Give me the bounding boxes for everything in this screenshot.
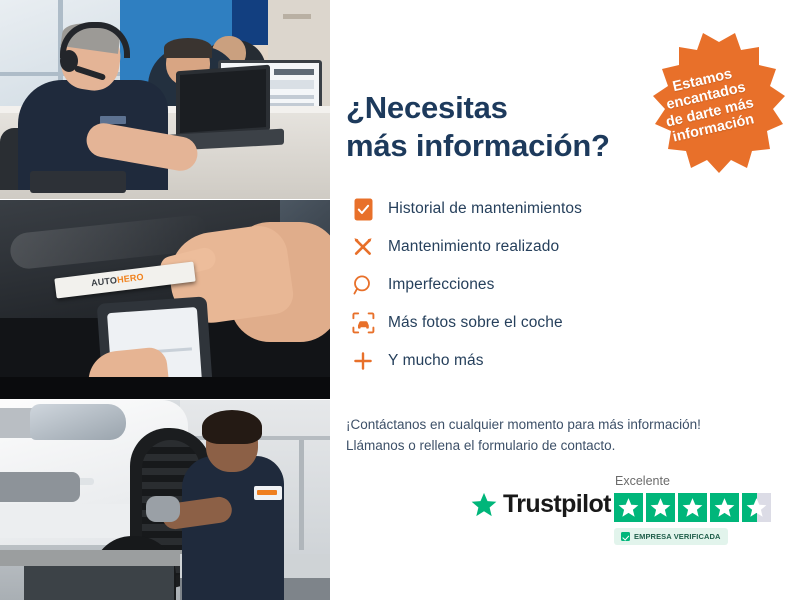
mechanic-uniform-logo — [254, 486, 282, 500]
plus-icon — [346, 344, 380, 378]
trustpilot-widget[interactable]: Trustpilot Excelente EMPRESA VERIFICADA — [470, 474, 790, 554]
page-title-line-1: ¿Necesitas — [346, 90, 508, 125]
contact-badge: Estamos encantados de darte más informac… — [629, 26, 787, 184]
vehicle-lift-base — [24, 566, 174, 600]
trustpilot-stars — [614, 493, 771, 522]
document-check-icon — [346, 192, 380, 226]
car-lower-bumper — [0, 504, 138, 538]
badge-text: Estamos encantados de darte más informac… — [640, 59, 776, 151]
desk-tablet — [30, 171, 126, 193]
feature-label: Y mucho más — [388, 352, 484, 370]
feature-item-fotos: Más fotos sobre el coche — [346, 304, 676, 342]
car-grille-lower — [0, 472, 80, 502]
car-camera-frame-icon — [346, 306, 380, 340]
trustpilot-rating-label: Excelente — [615, 474, 670, 488]
feature-item-imperfecciones: Imperfecciones — [346, 266, 676, 304]
feature-item-historial: Historial de mantenimientos — [346, 190, 676, 228]
feature-label: Mantenimiento realizado — [388, 238, 559, 256]
magnifier-icon — [346, 268, 380, 302]
feature-label: Más fotos sobre el coche — [388, 314, 563, 332]
photo-floor-shadow — [0, 377, 330, 399]
vehicle-lift-platform — [0, 550, 190, 566]
laptop-screen — [176, 65, 270, 138]
star-4 — [710, 493, 739, 522]
info-panel: ¿Necesitas más información? Estamos enca… — [330, 0, 799, 600]
feature-label: Historial de mantenimientos — [388, 200, 582, 218]
star-2 — [646, 493, 675, 522]
feature-label: Imperfecciones — [388, 276, 495, 294]
info-banner: AUTOHERO — [0, 0, 799, 600]
background-colleague-one-hair — [164, 38, 212, 58]
call-center-agent-photo — [0, 0, 330, 199]
monitor-ui-bar — [274, 69, 314, 75]
headset-icon — [629, 30, 655, 52]
tools-wrench-screwdriver-icon — [346, 230, 380, 264]
trustpilot-star-icon — [470, 491, 498, 519]
mechanic-wheel-photo — [0, 400, 330, 600]
star-5-half — [742, 493, 771, 522]
trustpilot-logo[interactable]: Trustpilot — [470, 490, 611, 519]
wall-shelf — [283, 14, 311, 19]
mechanic-glove — [146, 496, 180, 522]
star-1 — [614, 493, 643, 522]
star-3 — [678, 493, 707, 522]
verified-check-icon — [621, 532, 630, 541]
page-title-line-2: más información? — [346, 127, 666, 165]
autohero-ruler-logo: AUTOHERO — [91, 272, 145, 288]
car-headlight — [30, 404, 126, 440]
trustpilot-wordmark: Trustpilot — [503, 490, 611, 519]
workshop-pipe — [299, 440, 304, 550]
page-title: ¿Necesitas más información? — [346, 89, 666, 165]
verified-company-badge: EMPRESA VERIFICADA — [614, 528, 728, 545]
mechanic-torso — [182, 456, 284, 600]
car-inspection-photo: AUTOHERO — [0, 200, 330, 399]
verified-company-label: EMPRESA VERIFICADA — [634, 532, 721, 541]
contact-line-2: Llámanos o rellena el formulario de cont… — [346, 435, 786, 457]
photo-collage: AUTOHERO — [0, 0, 330, 600]
mechanic-hair — [202, 410, 262, 444]
feature-item-mucho-mas: Y mucho más — [346, 342, 676, 380]
contact-line-1: ¡Contáctanos en cualquier momento para m… — [346, 414, 786, 436]
feature-list: Historial de mantenimientos Mantenimient… — [346, 190, 676, 380]
contact-paragraph: ¡Contáctanos en cualquier momento para m… — [346, 414, 786, 458]
feature-item-mantenimiento: Mantenimiento realizado — [346, 228, 676, 266]
